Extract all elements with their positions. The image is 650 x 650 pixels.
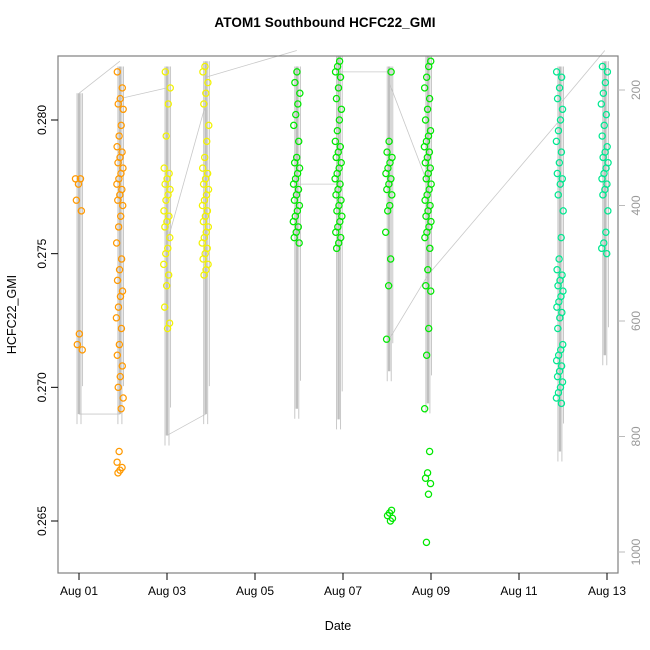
x-axis-tick-label: Aug 09: [412, 584, 450, 598]
data-point: [332, 176, 338, 182]
flight-track-lines-group: [77, 56, 608, 462]
chart-figure: ATOM1 Southbound HCFC22_GMI 0.2650.2700.…: [0, 0, 650, 650]
connector-line: [389, 83, 428, 185]
data-point: [421, 144, 427, 150]
x-axis-tick-label: Aug 01: [60, 584, 98, 598]
data-point: [290, 218, 296, 224]
y-axis-title: HCFC22_GMI: [5, 275, 19, 354]
right-axis-tick-label: 600: [629, 311, 643, 331]
connector-line: [79, 61, 120, 93]
right-axis-tick-label: 800: [629, 426, 643, 446]
connector-line: [389, 275, 428, 339]
x-axis-tick-label: Aug 07: [324, 584, 362, 598]
data-point: [199, 240, 205, 246]
data-point: [383, 229, 389, 235]
y-axis-tick-label: 0.265: [35, 506, 49, 536]
data-point: [598, 101, 604, 107]
x-axis-tick-label: Aug 11: [500, 584, 537, 598]
axes-group: 0.2650.2700.2750.280HCFC22_GMIAug 01Aug …: [5, 80, 643, 633]
data-point: [422, 406, 428, 412]
x-axis-tick-label: Aug 13: [588, 584, 626, 598]
right-axis-tick-label: 400: [629, 195, 643, 215]
data-point: [553, 395, 559, 401]
data-point: [423, 539, 429, 545]
x-axis-tick-label: Aug 05: [236, 584, 274, 598]
data-point: [113, 315, 119, 321]
connector-line: [120, 88, 167, 99]
data-point: [553, 138, 559, 144]
y-axis-tick-label: 0.280: [35, 105, 49, 135]
x-axis-tick-label: Aug 03: [148, 584, 186, 598]
connector-line: [428, 120, 560, 275]
x-axis-title: Date: [325, 619, 351, 633]
scatter-plot-canvas: 0.2650.2700.2750.280HCFC22_GMIAug 01Aug …: [0, 0, 650, 650]
connector-line: [167, 414, 206, 435]
data-point: [427, 480, 433, 486]
connector-line: [206, 50, 297, 77]
data-point: [425, 491, 431, 497]
data-point: [422, 475, 428, 481]
connector-line: [560, 50, 605, 103]
right-axis-tick-label: 1000: [629, 538, 643, 565]
y-axis-tick-label: 0.270: [35, 372, 49, 402]
y-axis-tick-label: 0.275: [35, 238, 49, 268]
right-axis-tick-label: 200: [629, 80, 643, 100]
data-point: [427, 448, 433, 454]
data-point: [116, 448, 122, 454]
data-point: [114, 459, 120, 465]
